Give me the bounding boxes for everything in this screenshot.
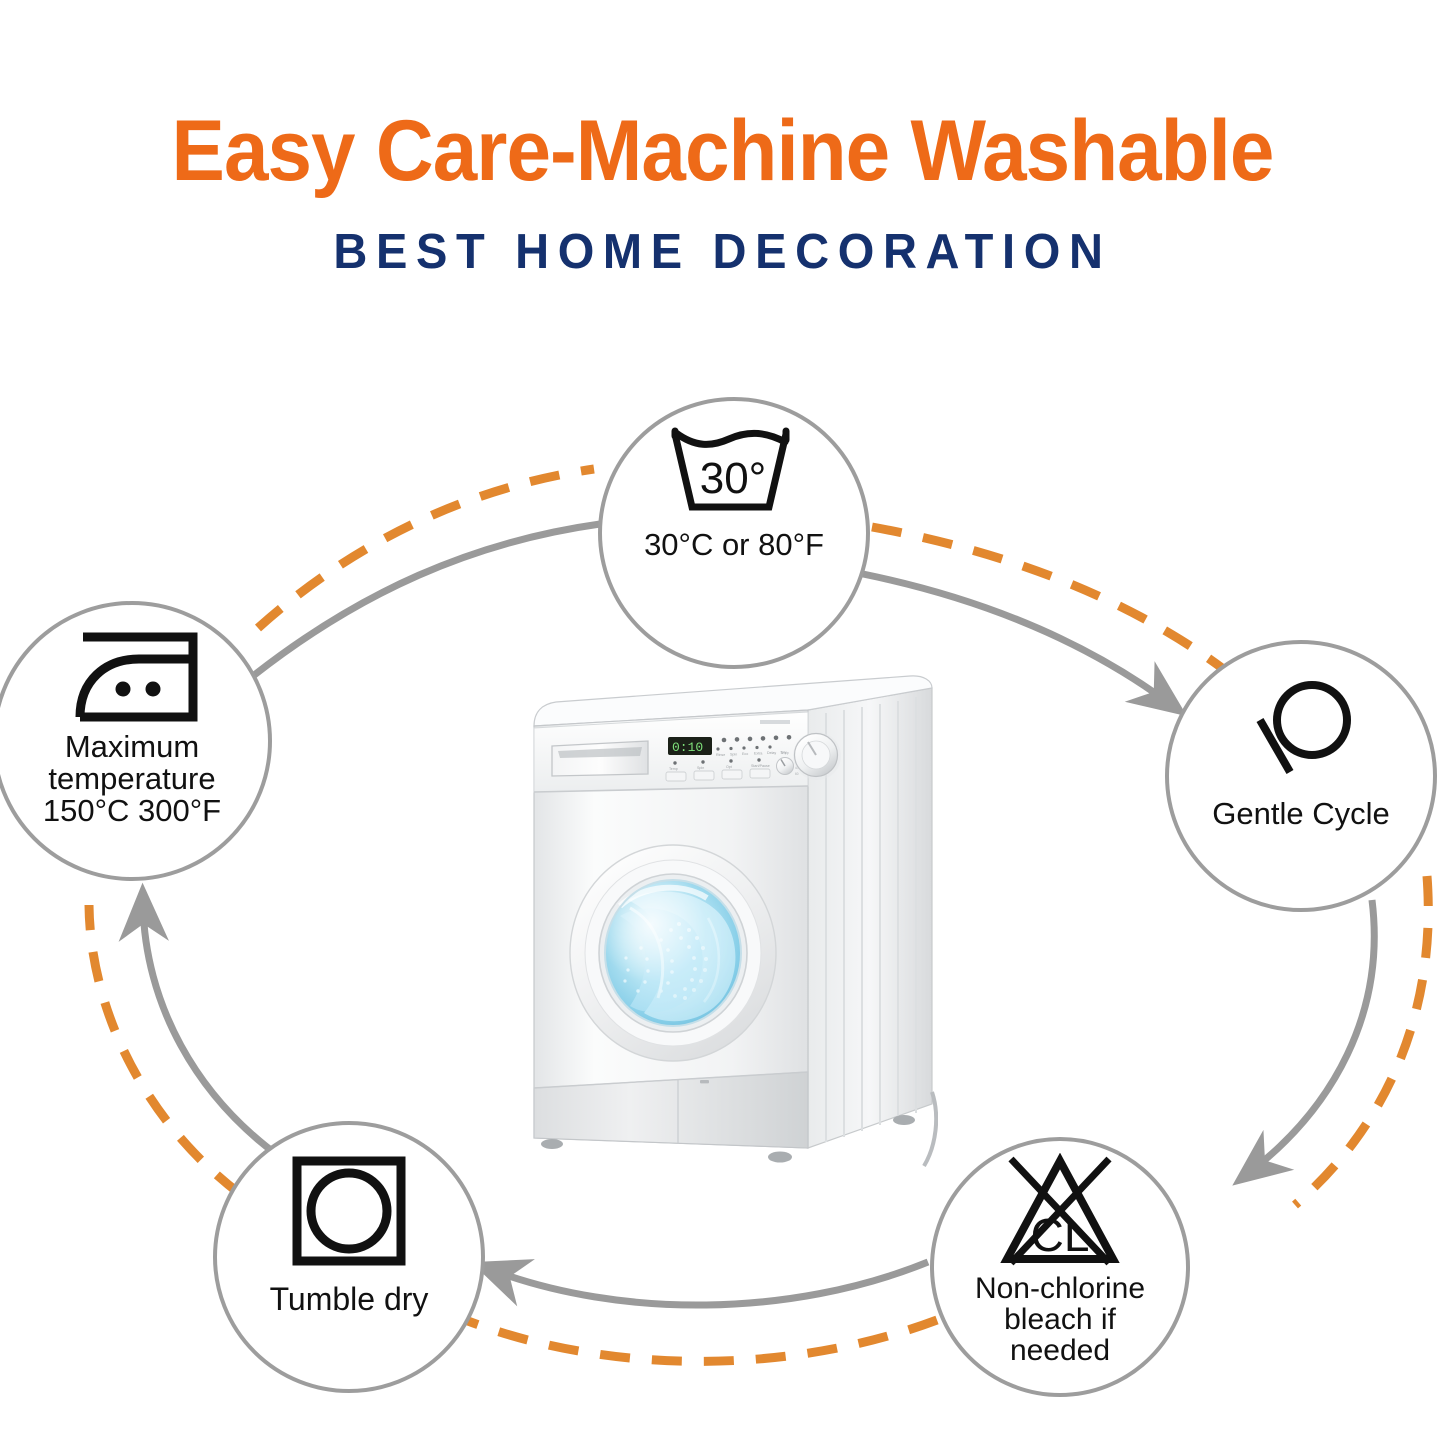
brand-mark — [760, 720, 790, 724]
connector-line-tumble-to-iron — [143, 905, 290, 1164]
node-wash-30[interactable]: 30° 30°C or 80°F — [598, 397, 870, 669]
node-wash-30-label: 30°C or 80°F — [644, 529, 824, 561]
washer-door[interactable] — [570, 845, 776, 1061]
svg-text:Delay: Delay — [767, 751, 776, 755]
node-gentle-cycle-label: Gentle Cycle — [1212, 798, 1389, 830]
svg-text:Extra: Extra — [754, 752, 762, 756]
svg-text:Opt: Opt — [726, 765, 732, 769]
connector-dash-wash-to-gentle — [872, 527, 1222, 668]
connector-line-iron-to-wash — [253, 524, 600, 676]
node-non-chlorine-bleach[interactable]: CL Non-chlorine bleach if needed — [930, 1137, 1190, 1397]
svg-text:Temp: Temp — [669, 767, 678, 771]
no-chlorine-bleach-triangle-icon: CL — [997, 1153, 1123, 1271]
svg-text:Temp: Temp — [780, 751, 789, 755]
wash-temp-text: 30° — [700, 454, 767, 503]
iron-two-dots-icon — [57, 629, 207, 725]
connector-dash-gentle-to-bleach — [1295, 876, 1428, 1205]
svg-text:Eco: Eco — [742, 752, 748, 756]
svg-text:60: 60 — [795, 772, 799, 776]
node-tumble-dry-label: Tumble dry — [270, 1283, 429, 1316]
svg-text:Spin: Spin — [697, 766, 704, 770]
node-max-iron-temperature-label: Maximum temperature 150°C 300°F — [43, 731, 221, 828]
node-max-iron-temperature[interactable]: Maximum temperature 150°C 300°F — [0, 601, 272, 881]
digital-display: 0:10 — [668, 737, 712, 755]
gentle-cycle-icon — [1241, 676, 1361, 786]
tumble-dry-icon — [289, 1155, 409, 1267]
connector-dash-tumble-to-iron — [89, 905, 240, 1194]
svg-text:0:10: 0:10 — [672, 740, 703, 755]
detergent-drawer[interactable] — [552, 741, 648, 776]
node-non-chlorine-bleach-label: Non-chlorine bleach if needed — [975, 1273, 1145, 1367]
infographic-canvas: Easy Care-Machine Washable BEST HOME DEC… — [0, 0, 1445, 1445]
svg-text:Spin: Spin — [730, 753, 737, 757]
wash-tub-icon: 30° — [665, 423, 803, 519]
node-gentle-cycle[interactable]: Gentle Cycle — [1165, 640, 1437, 912]
program-dial[interactable] — [793, 732, 841, 780]
svg-text:Start/Pause: Start/Pause — [751, 764, 770, 768]
washing-machine: 0:10 Rinse Spin Eco Extra Delay Dry — [508, 668, 938, 1208]
svg-text:Rinse: Rinse — [716, 753, 725, 757]
connector-line-bleach-to-tumble — [492, 1262, 928, 1305]
connector-line-gentle-to-bleach — [1250, 900, 1374, 1172]
connector-dash-iron-to-wash — [258, 469, 594, 628]
connector-dash-bleach-to-tumble — [468, 1320, 937, 1361]
node-tumble-dry[interactable]: Tumble dry — [213, 1121, 485, 1393]
